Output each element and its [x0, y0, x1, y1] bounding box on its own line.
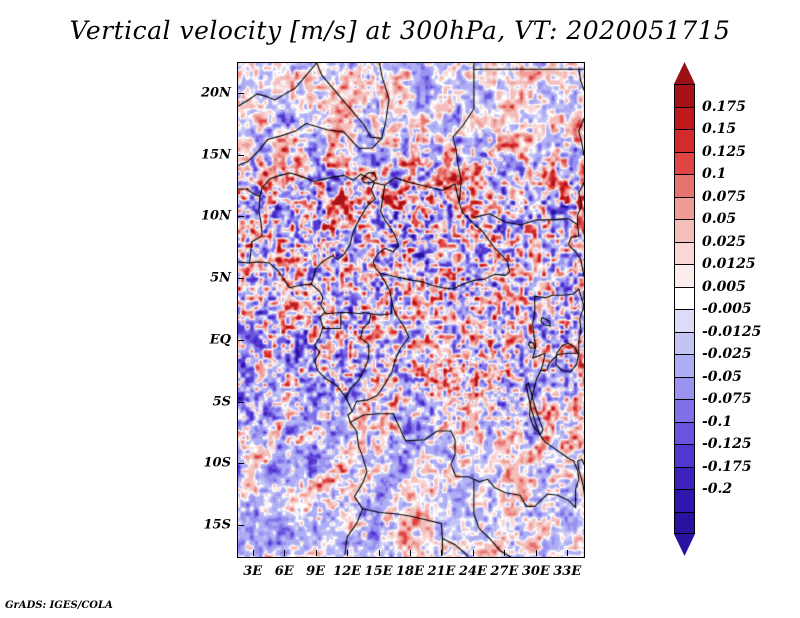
colorbar-tick-label: -0.125: [702, 436, 752, 452]
colorbar-tick-label: -0.025: [702, 346, 752, 362]
x-axis-tick: [441, 550, 442, 556]
colorbar-band[interactable]: [674, 489, 695, 512]
x-axis-tick: [316, 550, 317, 556]
colorbar-band[interactable]: [674, 174, 695, 197]
y-axis-tick: [238, 402, 244, 403]
colorbar-tick-label: -0.0125: [702, 324, 761, 340]
x-axis-label: 21E: [427, 564, 455, 579]
x-axis-tick: [473, 550, 474, 556]
colorbar-tick-label: 0.025: [702, 234, 746, 250]
y-axis-tick: [238, 155, 244, 156]
colorbar-cap-bottom: [674, 534, 695, 556]
colorbar-tick-label: 0.15: [702, 121, 736, 137]
y-axis-label: 20N: [175, 85, 231, 100]
colorbar-band[interactable]: [674, 399, 695, 422]
colorbar-band[interactable]: [674, 377, 695, 400]
colorbar-band[interactable]: [674, 422, 695, 445]
y-axis-label: 5S: [175, 394, 231, 409]
x-axis-label: 27E: [490, 564, 518, 579]
colorbar-band[interactable]: [674, 287, 695, 310]
x-axis-label: 3E: [243, 564, 262, 579]
x-axis-tick: [536, 550, 537, 556]
vertical-velocity-heatmap: [238, 63, 584, 557]
x-axis-label: 24E: [459, 564, 487, 579]
colorbar[interactable]: 0.1750.150.1250.10.0750.050.0250.01250.0…: [674, 62, 695, 556]
x-axis-tick: [567, 550, 568, 556]
y-axis-tick: [238, 463, 244, 464]
colorbar-band[interactable]: [674, 197, 695, 220]
y-axis-label: 15N: [175, 147, 231, 162]
colorbar-tick-label: -0.005: [702, 301, 752, 317]
colorbar-tick-label: -0.2: [702, 481, 732, 497]
y-axis-tick: [238, 525, 244, 526]
x-axis-label: 6E: [275, 564, 294, 579]
colorbar-tick-label: 0.0125: [702, 256, 756, 272]
colorbar-band[interactable]: [674, 219, 695, 242]
colorbar-tick-label: 0.1: [702, 166, 726, 182]
colorbar-band[interactable]: [674, 467, 695, 490]
x-axis-label: 18E: [396, 564, 424, 579]
y-axis-label: EQ: [175, 332, 231, 347]
colorbar-tick-label: 0.005: [702, 279, 746, 295]
colorbar-band[interactable]: [674, 84, 695, 107]
colorbar-tick-label: 0.075: [702, 189, 746, 205]
colorbar-band[interactable]: [674, 152, 695, 175]
colorbar-tick-label: -0.1: [702, 414, 732, 430]
x-axis-label: 15E: [365, 564, 393, 579]
grads-credit: GrADS: IGES/COLA: [5, 600, 113, 611]
x-axis-tick: [284, 550, 285, 556]
colorbar-band[interactable]: [674, 332, 695, 355]
colorbar-band[interactable]: [674, 512, 695, 535]
y-axis-label: 10N: [175, 209, 231, 224]
x-axis-tick: [410, 550, 411, 556]
colorbar-band[interactable]: [674, 242, 695, 265]
colorbar-tick-label: -0.05: [702, 369, 742, 385]
page-title: Vertical velocity [m/s] at 300hPa, VT: 2…: [0, 16, 800, 45]
y-axis-tick: [238, 278, 244, 279]
colorbar-tick-label: 0.175: [702, 99, 746, 115]
x-axis-tick: [253, 550, 254, 556]
y-axis-label: 10S: [175, 456, 231, 471]
x-axis-label: 12E: [333, 564, 361, 579]
colorbar-band[interactable]: [674, 107, 695, 130]
y-axis-label: 15S: [175, 518, 231, 533]
x-axis-label: 33E: [553, 564, 581, 579]
colorbar-band[interactable]: [674, 129, 695, 152]
colorbar-band[interactable]: [674, 264, 695, 287]
y-axis-tick: [238, 216, 244, 217]
map-plot-area[interactable]: [237, 62, 585, 558]
colorbar-tick-label: -0.175: [702, 459, 752, 475]
colorbar-tick-label: -0.075: [702, 391, 752, 407]
colorbar-band[interactable]: [674, 309, 695, 332]
y-axis-label: 5N: [175, 271, 231, 286]
y-axis-tick: [238, 340, 244, 341]
x-axis-tick: [379, 550, 380, 556]
colorbar-cap-top: [674, 62, 695, 84]
colorbar-band[interactable]: [674, 354, 695, 377]
x-axis-label: 9E: [306, 564, 325, 579]
x-axis-tick: [347, 550, 348, 556]
colorbar-tick-label: 0.05: [702, 211, 736, 227]
x-axis-tick: [504, 550, 505, 556]
x-axis-label: 30E: [522, 564, 550, 579]
colorbar-tick-label: 0.125: [702, 144, 746, 160]
y-axis-tick: [238, 93, 244, 94]
colorbar-band[interactable]: [674, 444, 695, 467]
